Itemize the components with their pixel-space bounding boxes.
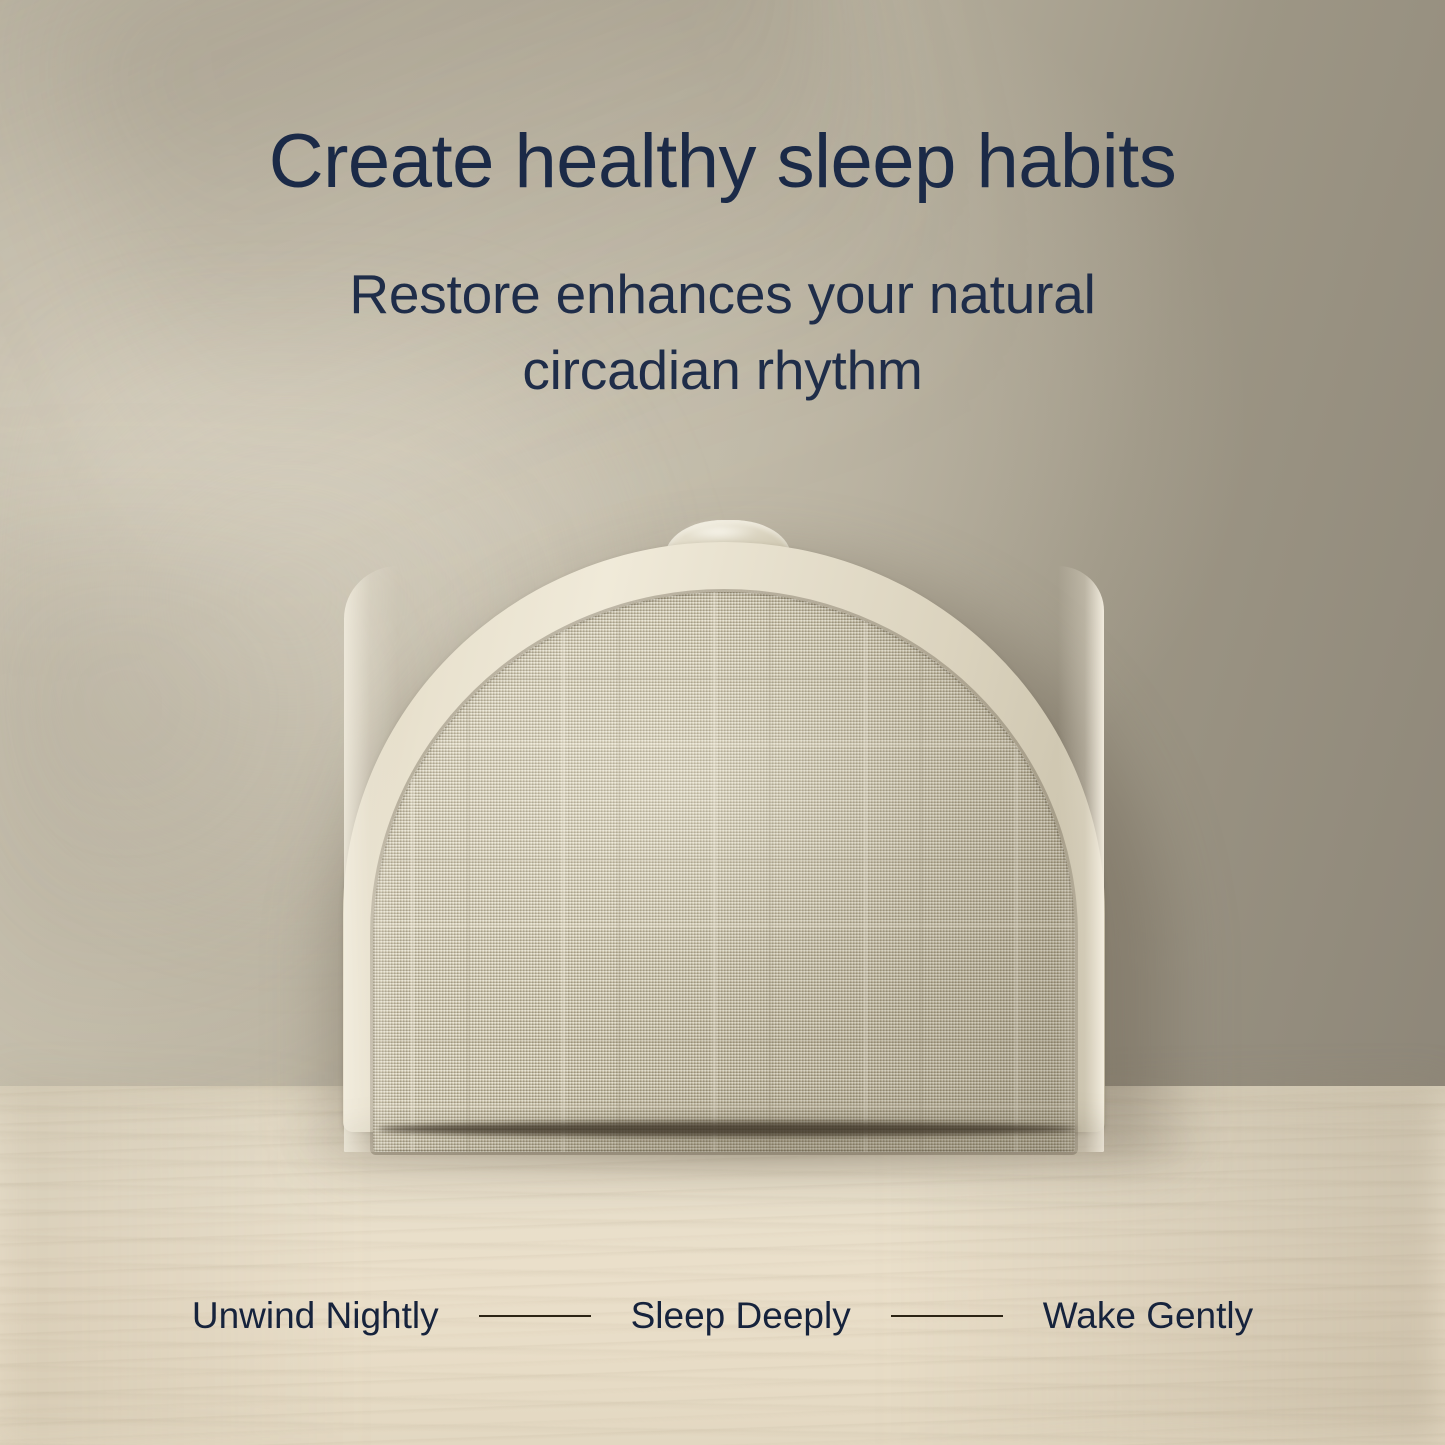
product-bezel xyxy=(343,542,1105,1132)
page-title: Create healthy sleep habits xyxy=(0,118,1445,206)
caption-divider-2 xyxy=(891,1315,1003,1317)
product-contact-shadow xyxy=(377,1122,1077,1136)
caption-wake-gently: Wake Gently xyxy=(1043,1286,1253,1346)
feature-caption-row: Unwind Nightly Sleep Deeply Wake Gently xyxy=(0,1286,1445,1346)
subtitle-line-2: circadian rhythm xyxy=(0,332,1445,408)
subtitle: Restore enhances your natural circadian … xyxy=(0,256,1445,408)
subtitle-line-1: Restore enhances your natural xyxy=(0,256,1445,332)
product-marketing-image: Create healthy sleep habits Restore enha… xyxy=(0,0,1445,1445)
fabric-lighting-overlay xyxy=(373,592,1075,1152)
caption-sleep-deeply: Sleep Deeply xyxy=(631,1286,851,1346)
knob-highlight xyxy=(687,526,757,540)
caption-unwind-nightly: Unwind Nightly xyxy=(192,1286,439,1346)
product-image xyxy=(343,520,1105,1132)
speaker-fabric-panel xyxy=(373,592,1075,1152)
caption-divider-1 xyxy=(479,1315,591,1317)
